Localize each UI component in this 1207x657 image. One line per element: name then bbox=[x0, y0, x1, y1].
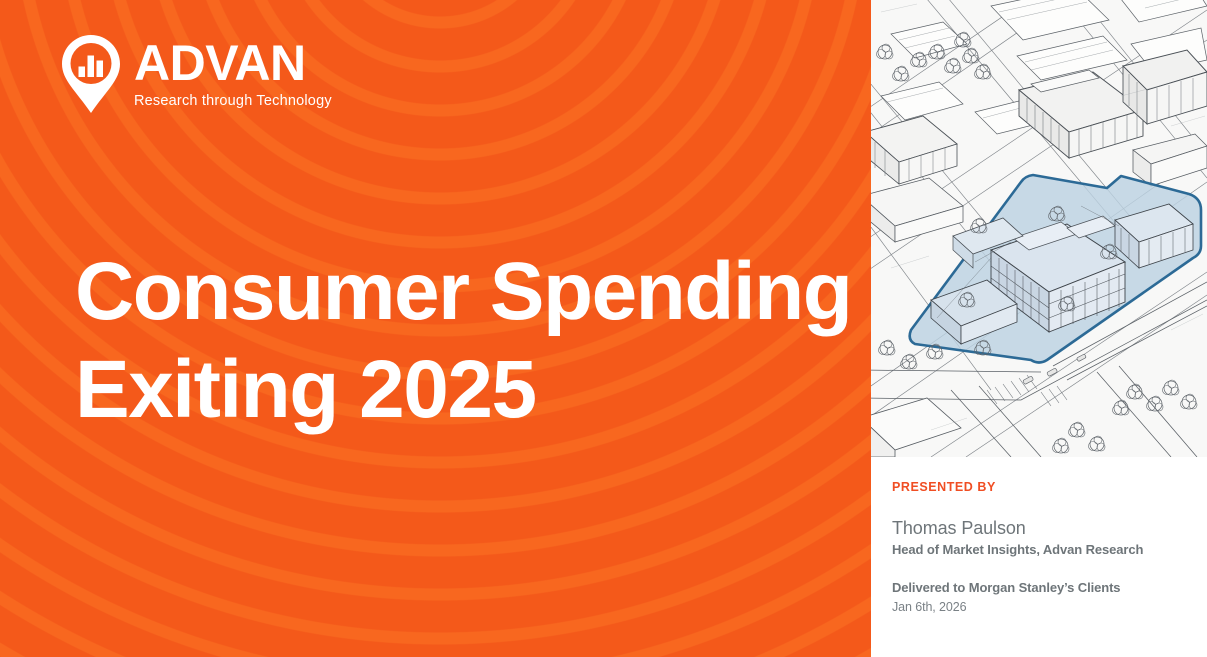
presenter-name: Thomas Paulson bbox=[892, 517, 1192, 540]
right-info-panel: PRESENTED BY Thomas Paulson Head of Mark… bbox=[871, 0, 1207, 657]
logo-text-wrap: ADVAN Research through Technology bbox=[134, 33, 332, 109]
page-title: Consumer Spending Exiting 2025 bbox=[75, 243, 835, 440]
aerial-architectural-sketch bbox=[871, 0, 1207, 457]
title-slide: ADVAN Research through Technology Consum… bbox=[0, 0, 1207, 657]
title-line-2: Exiting 2025 bbox=[75, 341, 835, 439]
left-orange-panel: ADVAN Research through Technology Consum… bbox=[0, 0, 871, 657]
presenter-group: Thomas Paulson Head of Market Insights, … bbox=[892, 517, 1192, 558]
advan-wordmark: ADVAN bbox=[134, 38, 332, 89]
title-line-1: Consumer Spending bbox=[75, 243, 835, 341]
advan-tagline: Research through Technology bbox=[134, 93, 332, 109]
delivered-to: Delivered to Morgan Stanley’s Clients bbox=[892, 579, 1192, 597]
left-panel-content: ADVAN Research through Technology Consum… bbox=[0, 0, 871, 657]
advan-logo[interactable]: ADVAN Research through Technology bbox=[60, 33, 332, 115]
presented-by-block: PRESENTED BY Thomas Paulson Head of Mark… bbox=[892, 480, 1192, 617]
map-pin-bar-chart-icon bbox=[60, 33, 122, 115]
presented-by-label: PRESENTED BY bbox=[892, 480, 1192, 494]
delivery-group: Delivered to Morgan Stanley’s Clients Ja… bbox=[892, 579, 1192, 617]
delivery-date: Jan 6th, 2026 bbox=[892, 599, 1192, 617]
presenter-role: Head of Market Insights, Advan Research bbox=[892, 541, 1192, 559]
